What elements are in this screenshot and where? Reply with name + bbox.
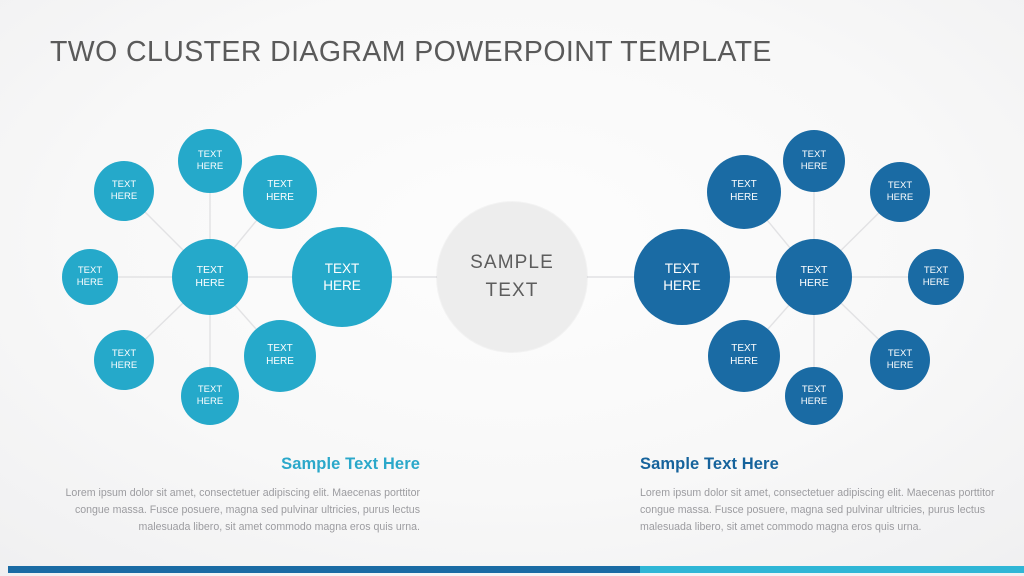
node-label-line2: HERE [663, 277, 701, 294]
node-label-line1: TEXT [325, 260, 360, 277]
caption-left-title: Sample Text Here [60, 455, 420, 474]
node-label-line2: HERE [111, 191, 137, 203]
caption-right-body: Lorem ipsum dolor sit amet, consectetuer… [640, 485, 1000, 536]
node-label-line1: TEXT [888, 180, 912, 192]
connector-line [234, 304, 258, 331]
node-label-line1: TEXT [112, 179, 136, 191]
bottom-accent-bar [8, 566, 1024, 573]
node-label-line1: TEXT [267, 179, 293, 192]
node-label-line2: HERE [323, 277, 361, 294]
node-label-line1: TEXT [888, 348, 912, 360]
right-cluster-node-r-big[interactable]: TEXTHERE [634, 229, 730, 325]
node-label-line2: HERE [801, 161, 827, 173]
left-cluster-node-l-big[interactable]: TEXTHERE [292, 227, 392, 327]
node-label-line2: HERE [197, 396, 223, 408]
node-label-line1: TEXT [802, 384, 826, 396]
node-label-line1: TEXT [198, 149, 222, 161]
caption-left-body: Lorem ipsum dolor sit amet, consectetuer… [60, 485, 420, 536]
node-label-line1: TEXT [112, 348, 136, 360]
node-label-line1: TEXT [731, 179, 757, 192]
node-label-line1: TEXT [802, 149, 826, 161]
right-cluster-node-r-n1[interactable]: TEXTHERE [783, 130, 845, 192]
node-label-line2: HERE [266, 356, 294, 369]
node-label-line2: HERE [266, 192, 294, 205]
right-cluster-node-r-n7[interactable]: TEXTHERE [708, 320, 780, 392]
node-label-line2: HERE [887, 360, 913, 372]
node-label-line1: TEXT [198, 384, 222, 396]
node-label-line2: TEXT [486, 277, 539, 306]
right-cluster-node-r-n6[interactable]: TEXTHERE [707, 155, 781, 229]
left-cluster-node-l-n1[interactable]: TEXTHERE [178, 129, 242, 193]
right-cluster-node-r-n2[interactable]: TEXTHERE [870, 162, 930, 222]
accent-bar-right-segment [640, 566, 1024, 573]
node-label-line1: TEXT [197, 264, 224, 277]
node-label-line2: HERE [730, 356, 758, 369]
left-cluster-node-l-n5[interactable]: TEXTHERE [181, 367, 239, 425]
node-label-line2: HERE [111, 360, 137, 372]
node-label-line1: TEXT [801, 264, 828, 277]
node-label-line2: HERE [923, 277, 949, 289]
left-cluster-node-l-n6[interactable]: TEXTHERE [243, 155, 317, 229]
left-cluster-node-l-n4[interactable]: TEXTHERE [94, 330, 154, 390]
right-cluster-node-r-n5[interactable]: TEXTHERE [785, 367, 843, 425]
slide-canvas: TWO CLUSTER DIAGRAM POWERPOINT TEMPLATE … [0, 0, 1024, 576]
node-label-line1: TEXT [665, 260, 700, 277]
node-label-line2: HERE [77, 277, 103, 289]
node-label-line2: HERE [195, 277, 224, 290]
left-cluster-node-l-n7[interactable]: TEXTHERE [244, 320, 316, 392]
node-label-line2: HERE [799, 277, 828, 290]
connector-line [840, 302, 880, 341]
center-node[interactable]: SAMPLETEXT [437, 202, 587, 352]
left-cluster-hub-node[interactable]: TEXTHERE [172, 239, 248, 315]
node-label-line1: TEXT [78, 265, 102, 277]
node-label-line1: SAMPLE [470, 249, 554, 278]
left-cluster-node-l-n2[interactable]: TEXTHERE [94, 161, 154, 221]
right-cluster-node-r-n4[interactable]: TEXTHERE [870, 330, 930, 390]
node-label-line1: TEXT [731, 343, 757, 356]
node-label-line2: HERE [801, 396, 827, 408]
caption-left: Sample Text Here Lorem ipsum dolor sit a… [60, 455, 420, 536]
connector-line [144, 302, 184, 341]
connector-line [766, 219, 791, 249]
node-label-line2: HERE [887, 192, 913, 204]
node-label-line2: HERE [197, 161, 223, 173]
connector-line [767, 304, 791, 331]
caption-right: Sample Text Here Lorem ipsum dolor sit a… [640, 455, 1000, 536]
node-label-line1: TEXT [924, 265, 948, 277]
connector-line [144, 211, 185, 252]
node-label-line1: TEXT [267, 343, 293, 356]
left-cluster-node-l-n3[interactable]: TEXTHERE [62, 249, 118, 305]
connector-line [840, 212, 880, 252]
caption-right-title: Sample Text Here [640, 455, 1000, 474]
node-label-line2: HERE [730, 192, 758, 205]
connector-line [233, 219, 258, 249]
right-cluster-hub-node[interactable]: TEXTHERE [776, 239, 852, 315]
right-cluster-node-r-n3[interactable]: TEXTHERE [908, 249, 964, 305]
accent-bar-left-segment [8, 566, 640, 573]
